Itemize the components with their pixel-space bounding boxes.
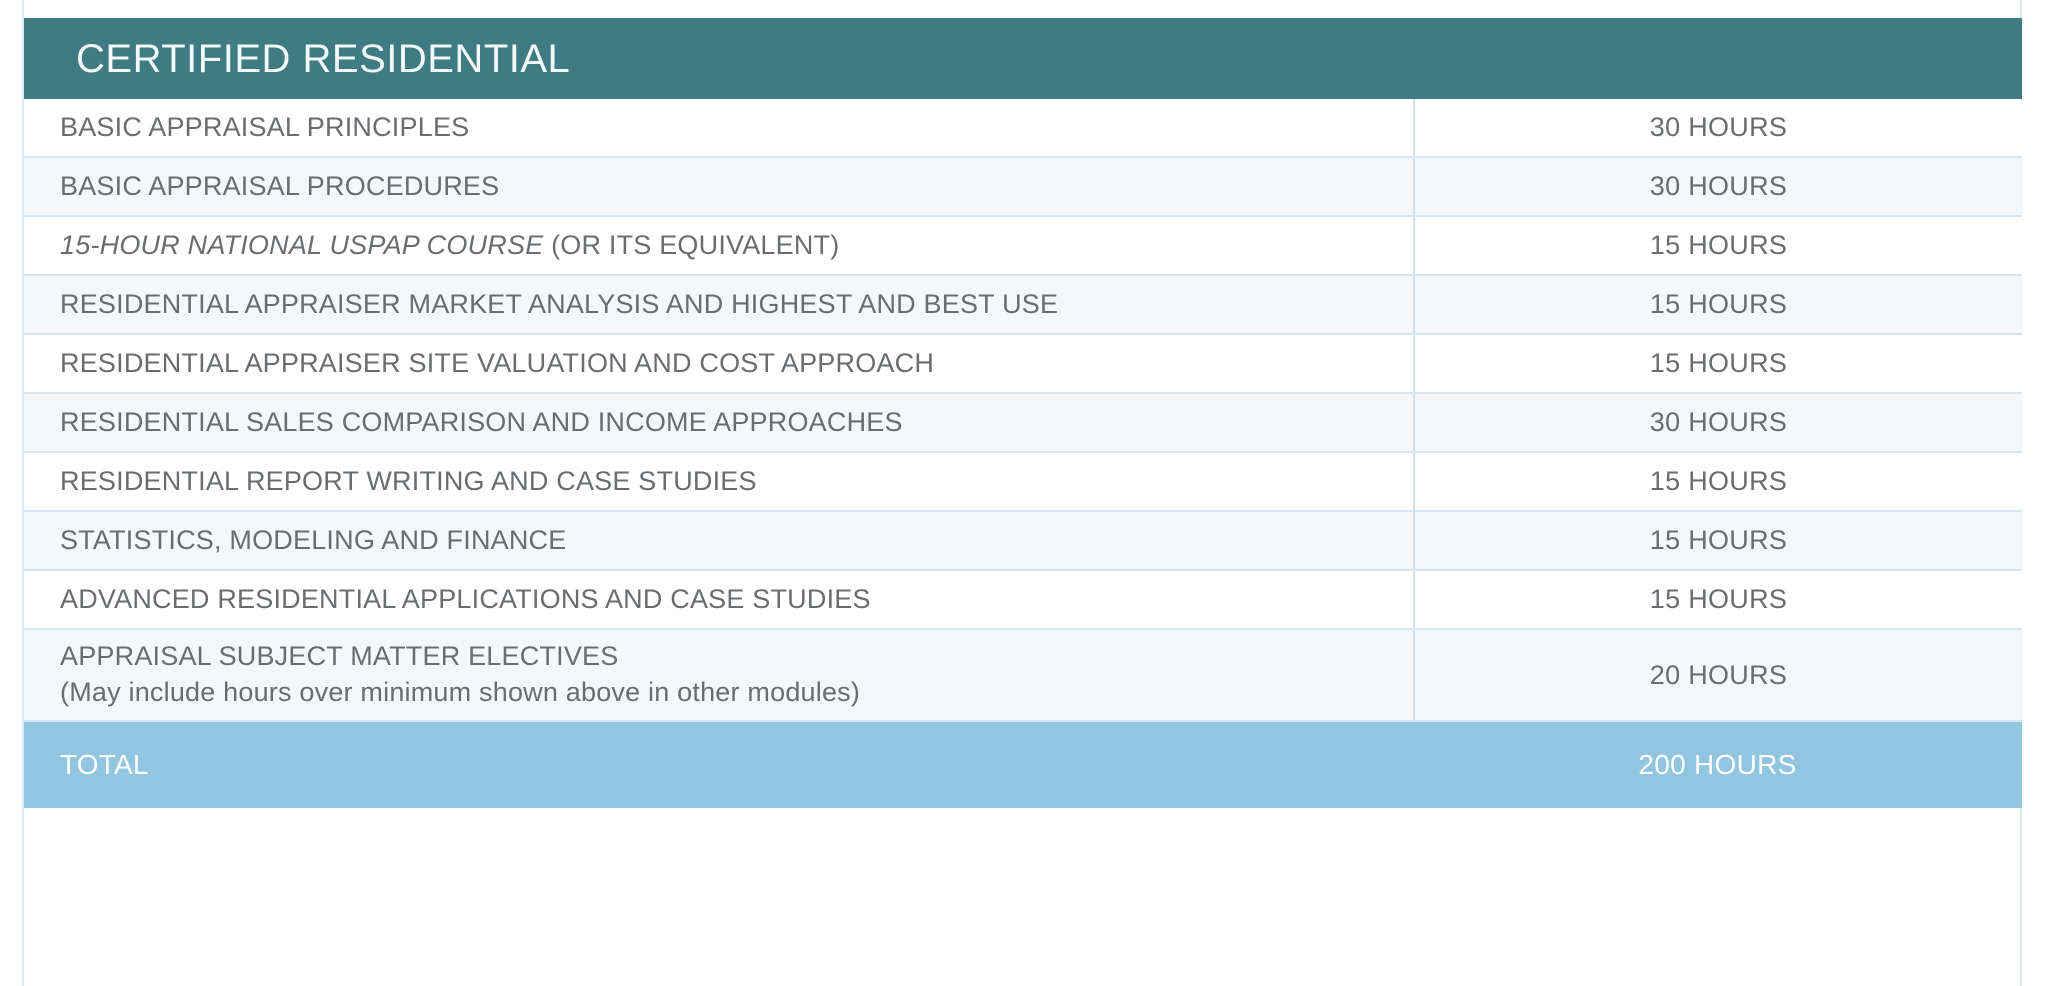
row-label-italic-part: 15-HOUR NATIONAL USPAP COURSE bbox=[60, 230, 543, 260]
row-label: BASIC APPRAISAL PRINCIPLES bbox=[60, 112, 1395, 144]
table-row: BASIC APPRAISAL PRINCIPLES 30 HOURS bbox=[24, 99, 2022, 158]
table-row: RESIDENTIAL REPORT WRITING AND CASE STUD… bbox=[24, 453, 2022, 512]
row-hours-cell: 30 HOURS bbox=[1413, 394, 2022, 451]
row-hours-cell: 20 HOURS bbox=[1413, 630, 2022, 720]
row-label-cell: STATISTICS, MODELING AND FINANCE bbox=[24, 512, 1413, 569]
row-label-cell: ADVANCED RESIDENTIAL APPLICATIONS AND CA… bbox=[24, 571, 1413, 628]
row-label: RESIDENTIAL APPRAISER SITE VALUATION AND… bbox=[60, 348, 1395, 380]
row-label-cell: APPRAISAL SUBJECT MATTER ELECTIVES (May … bbox=[24, 630, 1413, 720]
row-label-cell: BASIC APPRAISAL PROCEDURES bbox=[24, 158, 1413, 215]
row-hours-cell: 30 HOURS bbox=[1413, 99, 2022, 156]
row-label-cell: RESIDENTIAL SALES COMPARISON AND INCOME … bbox=[24, 394, 1413, 451]
row-label: RESIDENTIAL REPORT WRITING AND CASE STUD… bbox=[60, 466, 1395, 498]
row-label-cell: RESIDENTIAL APPRAISER SITE VALUATION AND… bbox=[24, 335, 1413, 392]
row-hours-cell: 15 HOURS bbox=[1413, 571, 2022, 628]
table-row: STATISTICS, MODELING AND FINANCE 15 HOUR… bbox=[24, 512, 2022, 571]
table-row: BASIC APPRAISAL PROCEDURES 30 HOURS bbox=[24, 158, 2022, 217]
total-label-cell: TOTAL bbox=[24, 722, 1413, 808]
row-label: BASIC APPRAISAL PROCEDURES bbox=[60, 171, 1395, 203]
row-hours-cell: 15 HOURS bbox=[1413, 512, 2022, 569]
row-label-cell: RESIDENTIAL REPORT WRITING AND CASE STUD… bbox=[24, 453, 1413, 510]
table-header: CERTIFIED RESIDENTIAL bbox=[24, 18, 2022, 99]
row-label: APPRAISAL SUBJECT MATTER ELECTIVES bbox=[60, 641, 1395, 673]
row-hours-cell: 15 HOURS bbox=[1413, 335, 2022, 392]
total-label: TOTAL bbox=[60, 748, 1395, 781]
row-label-plain-part: (OR ITS EQUIVALENT) bbox=[543, 230, 839, 260]
row-hours-cell: 30 HOURS bbox=[1413, 158, 2022, 215]
row-label: RESIDENTIAL SALES COMPARISON AND INCOME … bbox=[60, 407, 1395, 439]
row-label-cell: RESIDENTIAL APPRAISER MARKET ANALYSIS AN… bbox=[24, 276, 1413, 333]
total-hours-cell: 200 HOURS bbox=[1413, 722, 2022, 808]
requirements-table: CERTIFIED RESIDENTIAL BASIC APPRAISAL PR… bbox=[24, 18, 2022, 808]
table-row: APPRAISAL SUBJECT MATTER ELECTIVES (May … bbox=[24, 630, 2022, 722]
row-label: 15-HOUR NATIONAL USPAP COURSE (OR ITS EQ… bbox=[60, 230, 1395, 262]
table-row: RESIDENTIAL APPRAISER SITE VALUATION AND… bbox=[24, 335, 2022, 394]
row-label-cell: BASIC APPRAISAL PRINCIPLES bbox=[24, 99, 1413, 156]
row-hours-cell: 15 HOURS bbox=[1413, 217, 2022, 274]
row-label-subnote: (May include hours over minimum shown ab… bbox=[60, 677, 1395, 709]
row-label-cell: 15-HOUR NATIONAL USPAP COURSE (OR ITS EQ… bbox=[24, 217, 1413, 274]
page-root: CERTIFIED RESIDENTIAL BASIC APPRAISAL PR… bbox=[0, 0, 2048, 986]
table-row: RESIDENTIAL APPRAISER MARKET ANALYSIS AN… bbox=[24, 276, 2022, 335]
row-label: RESIDENTIAL APPRAISER MARKET ANALYSIS AN… bbox=[60, 289, 1395, 321]
table-total-row: TOTAL 200 HOURS bbox=[24, 722, 2022, 808]
row-label: ADVANCED RESIDENTIAL APPLICATIONS AND CA… bbox=[60, 584, 1395, 616]
table-row: 15-HOUR NATIONAL USPAP COURSE (OR ITS EQ… bbox=[24, 217, 2022, 276]
row-hours-cell: 15 HOURS bbox=[1413, 276, 2022, 333]
row-hours-cell: 15 HOURS bbox=[1413, 453, 2022, 510]
row-label: STATISTICS, MODELING AND FINANCE bbox=[60, 525, 1395, 557]
table-title: CERTIFIED RESIDENTIAL bbox=[76, 39, 570, 79]
table-row: ADVANCED RESIDENTIAL APPLICATIONS AND CA… bbox=[24, 571, 2022, 630]
table-row: RESIDENTIAL SALES COMPARISON AND INCOME … bbox=[24, 394, 2022, 453]
